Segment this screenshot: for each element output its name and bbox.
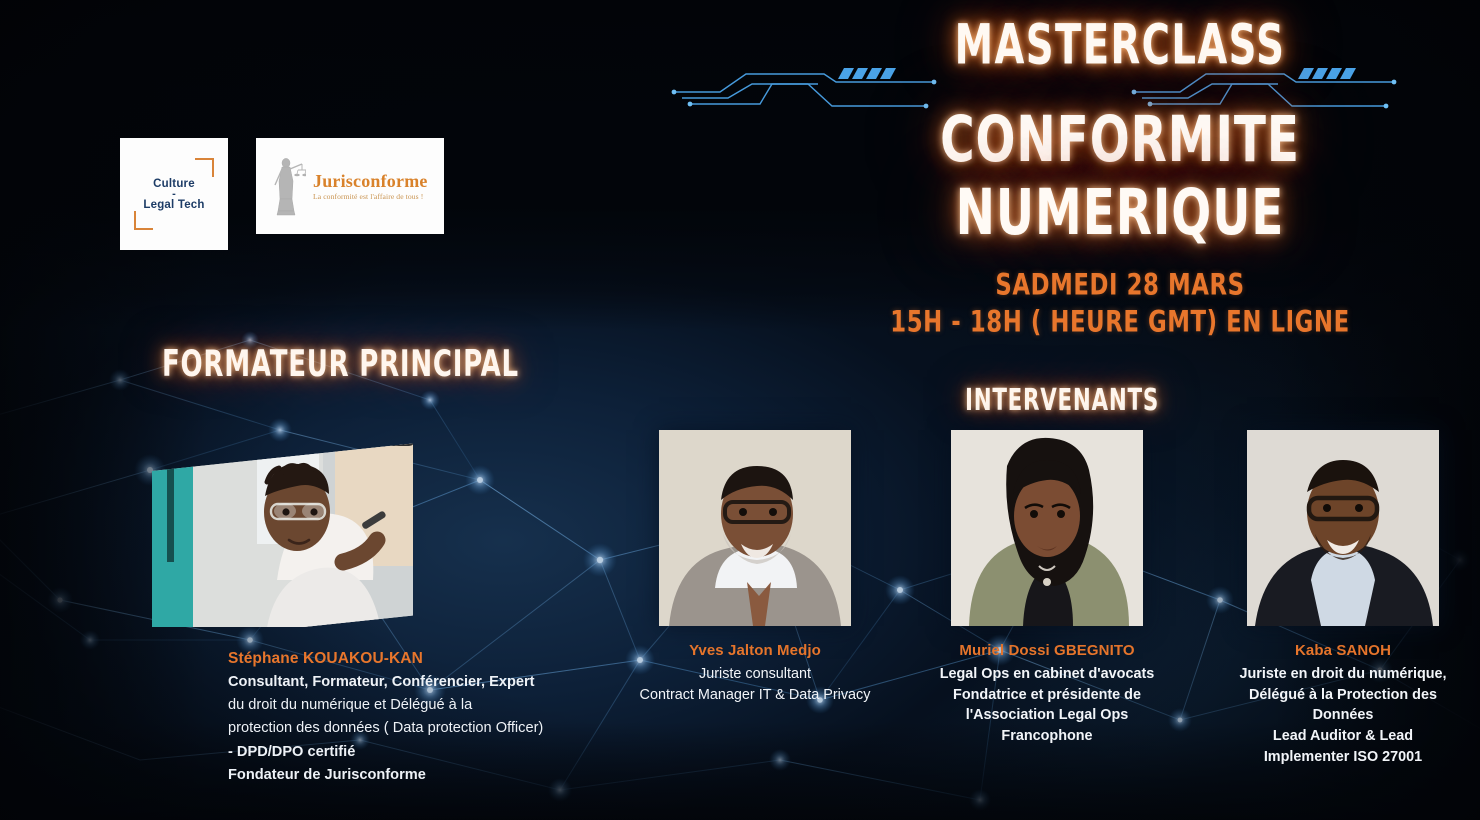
speaker-card-kaba-sanoh: Kaba SANOH Juriste en droit du numérique… bbox=[1243, 430, 1443, 768]
trainer-bio-line: - DPD/DPO certifié bbox=[228, 741, 628, 764]
logo-jurisconforme-tagline: La conformité est l'affaire de tous ! bbox=[313, 193, 428, 201]
speaker-role-line: Fondatrice et présidente de bbox=[921, 685, 1173, 706]
lady-justice-icon bbox=[272, 155, 306, 217]
trainer-bio-line: Consultant, Formateur, Conférencier, Exp… bbox=[228, 671, 628, 694]
speaker-role: Juriste consultant Contract Manager IT &… bbox=[620, 664, 890, 705]
speaker-role: Juriste en droit du numérique, Délégué à… bbox=[1228, 664, 1458, 768]
speaker-role-line: Lead Auditor & Lead bbox=[1228, 726, 1458, 747]
trainer-portrait-image bbox=[152, 443, 413, 627]
logo-culture-dash: - bbox=[172, 191, 176, 198]
section-heading-trainer: FORMATEUR PRINCIPAL bbox=[162, 342, 519, 385]
speaker-card-muriel-dossi-gbegnito: Muriel Dossi GBEGNITO Legal Ops en cabin… bbox=[947, 430, 1147, 747]
speaker-photo bbox=[1247, 430, 1439, 626]
speaker-name: Kaba SANOH bbox=[1243, 642, 1443, 659]
headline-block: MASTERCLASS CONFORMITE NUMERIQUE SADMEDI… bbox=[760, 0, 1480, 337]
trainer-bio-line: Fondateur de Jurisconforme bbox=[228, 764, 628, 787]
corner-bracket-bottom-left-icon bbox=[134, 211, 153, 230]
speaker-card-yves-jalton-medjo: Yves Jalton Medjo Juriste consultant Con… bbox=[655, 430, 855, 705]
speaker-role-line: Juriste en droit du numérique, bbox=[1228, 664, 1458, 685]
speaker-role-line: Francophone bbox=[921, 726, 1173, 747]
speaker-role-line: Implementer ISO 27001 bbox=[1228, 747, 1458, 768]
speaker-role-line: Juriste consultant bbox=[620, 664, 890, 685]
trainer-bio-line: protection des données ( Data protection… bbox=[228, 717, 628, 740]
speaker-name: Yves Jalton Medjo bbox=[655, 642, 855, 659]
speaker-portrait-image bbox=[951, 430, 1143, 626]
speaker-photo bbox=[659, 430, 851, 626]
speaker-role: Legal Ops en cabinet d'avocats Fondatric… bbox=[921, 664, 1173, 747]
event-datetime: SADMEDI 28 MARS 15H - 18H ( HEURE GMT) E… bbox=[760, 263, 1480, 337]
speaker-portrait-image bbox=[1247, 430, 1439, 626]
trainer-photo bbox=[152, 443, 418, 643]
section-heading-speakers: INTERVENANTS bbox=[965, 384, 1159, 418]
speaker-role-line: l'Association Legal Ops bbox=[921, 705, 1173, 726]
logo-culture-legal-tech: Culture - Legal Tech bbox=[120, 138, 228, 250]
trainer-bio: Consultant, Formateur, Conférencier, Exp… bbox=[228, 671, 628, 787]
event-kicker: MASTERCLASS bbox=[789, 12, 1451, 77]
speaker-role-line: Legal Ops en cabinet d'avocats bbox=[921, 664, 1173, 685]
logo-jurisconforme: Jurisconforme La conformité est l'affair… bbox=[256, 138, 444, 234]
logo-row: Culture - Legal Tech bbox=[120, 138, 444, 250]
event-title: CONFORMITE NUMERIQUE bbox=[782, 103, 1459, 249]
logo-jurisconforme-name: Jurisconforme bbox=[313, 172, 428, 190]
speaker-portrait-image bbox=[659, 430, 851, 626]
corner-bracket-top-right-icon bbox=[195, 158, 214, 177]
logo-culture-line2: Legal Tech bbox=[143, 199, 204, 211]
speaker-role-line: Contract Manager IT & Data Privacy bbox=[620, 685, 890, 706]
event-time: 15H - 18H ( HEURE GMT) EN LIGNE bbox=[778, 300, 1462, 345]
speaker-name: Muriel Dossi GBEGNITO bbox=[947, 642, 1147, 659]
trainer-info: Stéphane KOUAKOU-KAN Consultant, Formate… bbox=[228, 650, 628, 787]
trainer-bio-line: du droit du numérique et Délégué à la bbox=[228, 694, 628, 717]
speaker-role-line: Données bbox=[1228, 705, 1458, 726]
speaker-role-line: Délégué à la Protection des bbox=[1228, 685, 1458, 706]
masterclass-poster: Culture - Legal Tech bbox=[0, 0, 1480, 820]
trainer-name: Stéphane KOUAKOU-KAN bbox=[228, 650, 628, 668]
speaker-photo bbox=[951, 430, 1143, 626]
